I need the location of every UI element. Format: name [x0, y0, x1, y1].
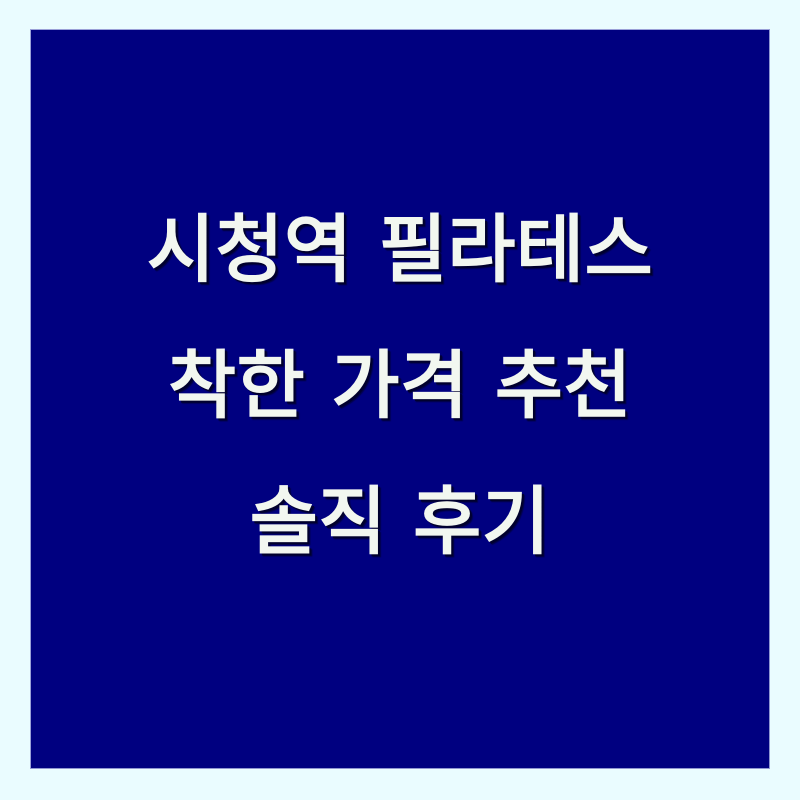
poster-canvas: 시청역 필라테스 착한 가격 추천 솔직 후기: [0, 0, 800, 800]
poster-card: 시청역 필라테스 착한 가격 추천 솔직 후기: [30, 29, 770, 769]
headline-line-1: 시청역 필라테스: [31, 182, 769, 318]
headline-line-2: 착한 가격 추천: [31, 318, 769, 454]
headline-line-3: 솔직 후기: [31, 454, 769, 590]
headline-block: 시청역 필라테스 착한 가격 추천 솔직 후기: [31, 182, 769, 616]
